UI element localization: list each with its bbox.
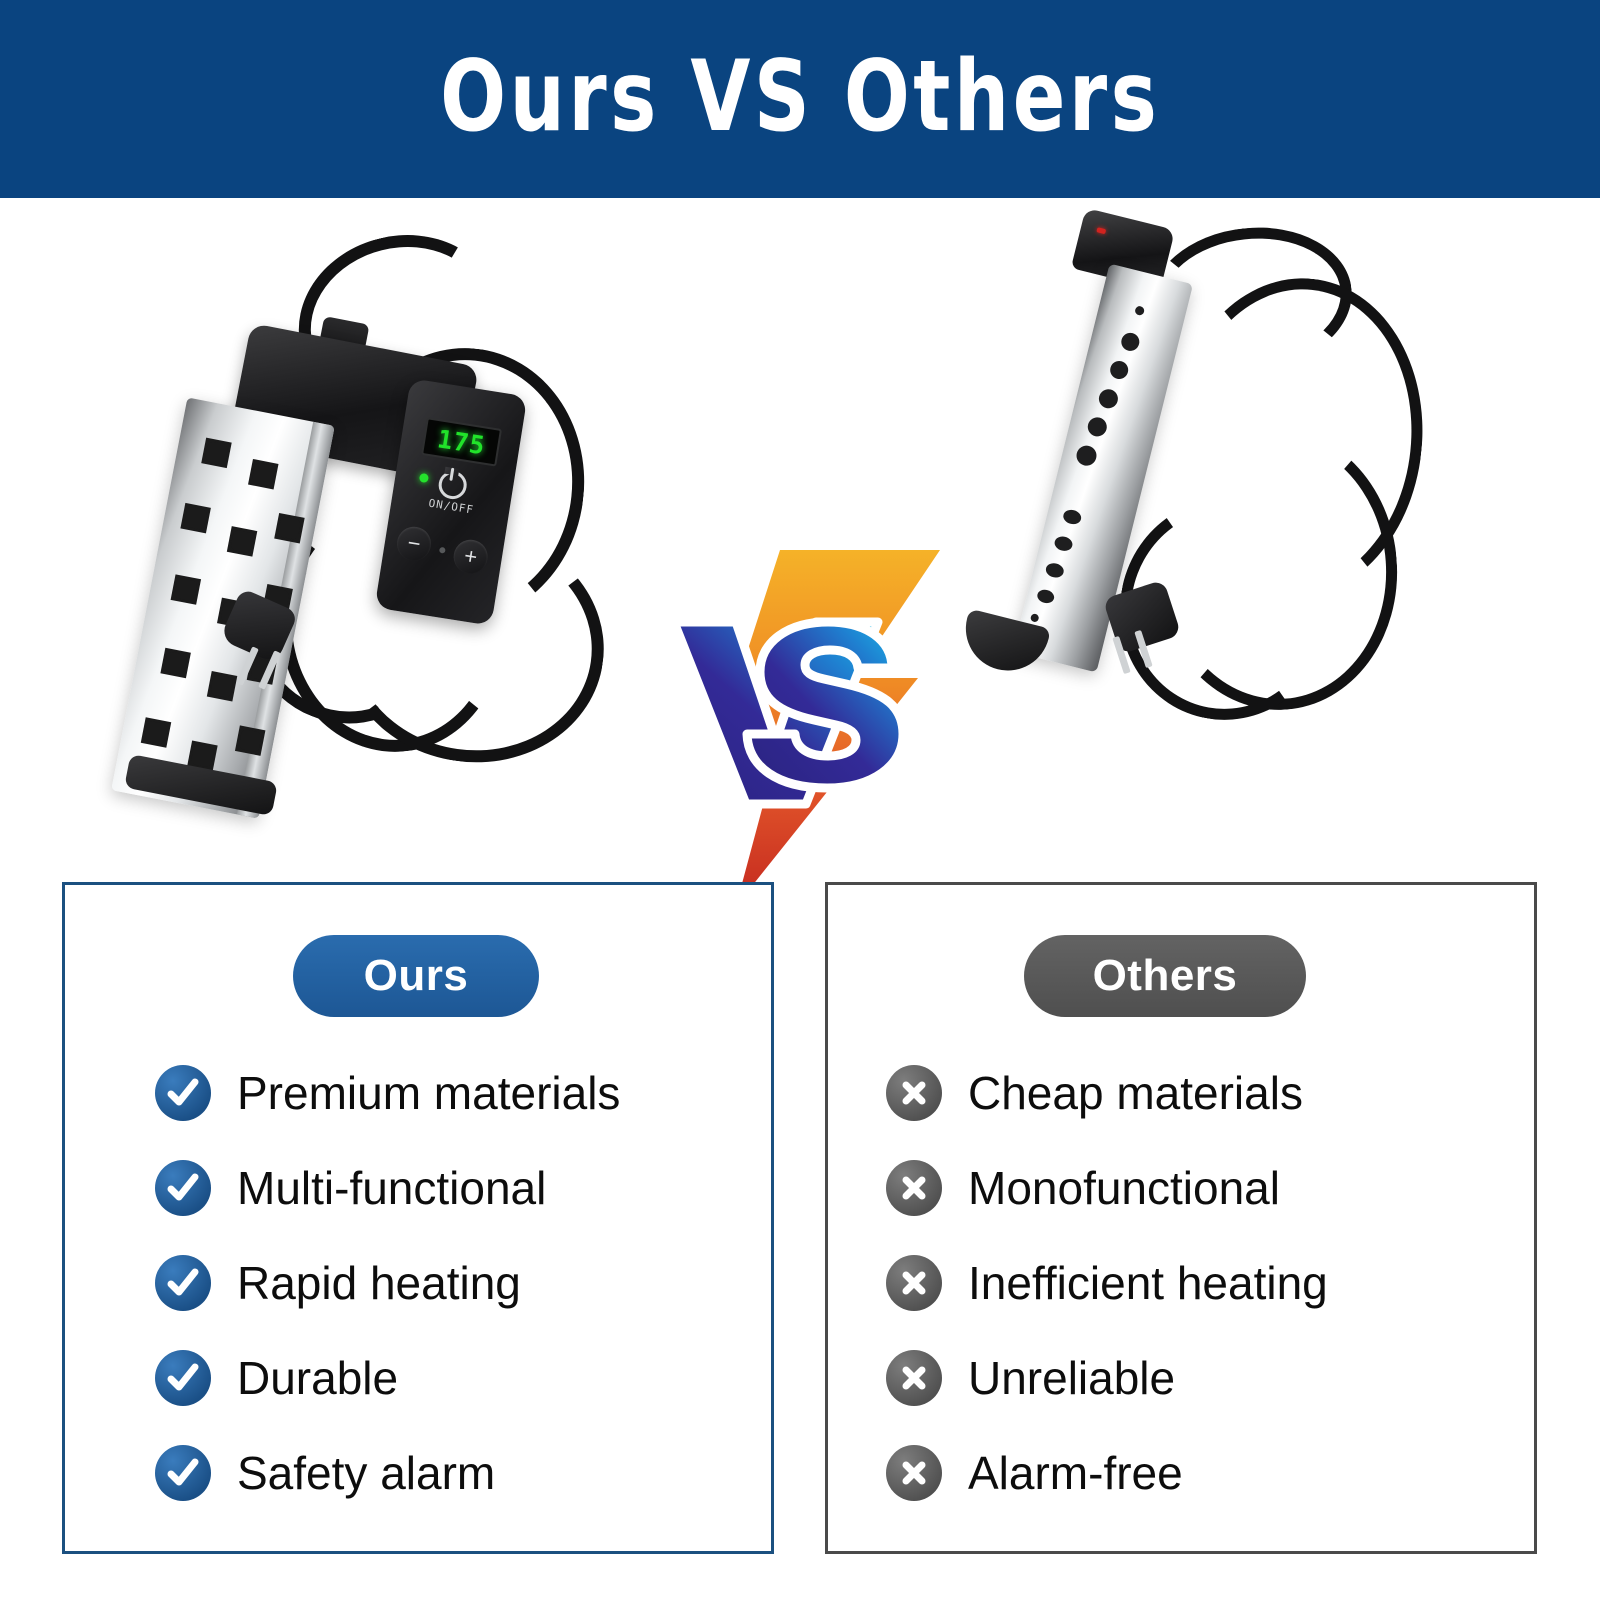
- x-icon: [886, 1065, 942, 1121]
- list-item-label: Cheap materials: [968, 1070, 1303, 1116]
- vs-letter-s: [747, 622, 903, 788]
- controller-display: 175: [421, 417, 502, 466]
- check-icon: [155, 1255, 211, 1311]
- check-icon: [155, 1350, 211, 1406]
- indicator-led: [1096, 227, 1106, 234]
- immersion-heater-illustration: [940, 198, 1580, 858]
- page-header: Ours VS Others: [0, 0, 1600, 198]
- others-product-image: [940, 198, 1580, 858]
- others-feature-list: Cheap materials Monofunctional Inefficie…: [828, 1045, 1534, 1520]
- hero-product-comparison: 175 ON/OFF − +: [0, 198, 1600, 858]
- x-icon: [886, 1350, 942, 1406]
- list-item-label: Alarm-free: [968, 1450, 1183, 1496]
- ours-pill-label: Ours: [293, 935, 539, 1017]
- controller-indicator-dot: [439, 547, 446, 554]
- list-item: Cheap materials: [828, 1045, 1534, 1140]
- increase-button[interactable]: +: [451, 537, 490, 576]
- list-item: Alarm-free: [828, 1425, 1534, 1520]
- bucket-heater-illustration: 175 ON/OFF − +: [40, 198, 680, 858]
- list-item: Premium materials: [65, 1045, 771, 1140]
- list-item-label: Unreliable: [968, 1355, 1175, 1401]
- check-icon: [155, 1160, 211, 1216]
- x-icon: [886, 1255, 942, 1311]
- x-icon: [886, 1160, 942, 1216]
- decrease-button[interactable]: −: [395, 524, 434, 563]
- x-icon: [886, 1445, 942, 1501]
- others-comparison-card: Others Cheap materials Monofunctional In…: [825, 882, 1537, 1554]
- list-item: Safety alarm: [65, 1425, 771, 1520]
- list-item-label: Monofunctional: [968, 1165, 1280, 1211]
- list-item: Durable: [65, 1330, 771, 1425]
- check-icon: [155, 1445, 211, 1501]
- page-title: Ours VS Others: [440, 48, 1160, 146]
- vs-badge-graphic: [640, 528, 960, 928]
- vs-badge: [640, 528, 960, 928]
- list-item: Rapid heating: [65, 1235, 771, 1330]
- list-item-label: Premium materials: [237, 1070, 620, 1116]
- list-item-label: Multi-functional: [237, 1165, 546, 1211]
- ours-comparison-card: Ours Premium materials Multi-functional …: [62, 882, 774, 1554]
- check-icon: [155, 1065, 211, 1121]
- list-item-label: Inefficient heating: [968, 1260, 1328, 1306]
- power-icon[interactable]: [437, 466, 467, 496]
- list-item: Unreliable: [828, 1330, 1534, 1425]
- list-item-label: Safety alarm: [237, 1450, 495, 1496]
- list-item-label: Durable: [237, 1355, 398, 1401]
- ours-feature-list: Premium materials Multi-functional Rapid…: [65, 1045, 771, 1520]
- list-item-label: Rapid heating: [237, 1260, 521, 1306]
- ours-product-image: 175 ON/OFF − +: [40, 198, 680, 858]
- list-item: Multi-functional: [65, 1140, 771, 1235]
- status-led: [419, 473, 429, 483]
- others-pill-label: Others: [1024, 935, 1306, 1017]
- list-item: Inefficient heating: [828, 1235, 1534, 1330]
- list-item: Monofunctional: [828, 1140, 1534, 1235]
- temperature-readout: 175: [436, 426, 487, 458]
